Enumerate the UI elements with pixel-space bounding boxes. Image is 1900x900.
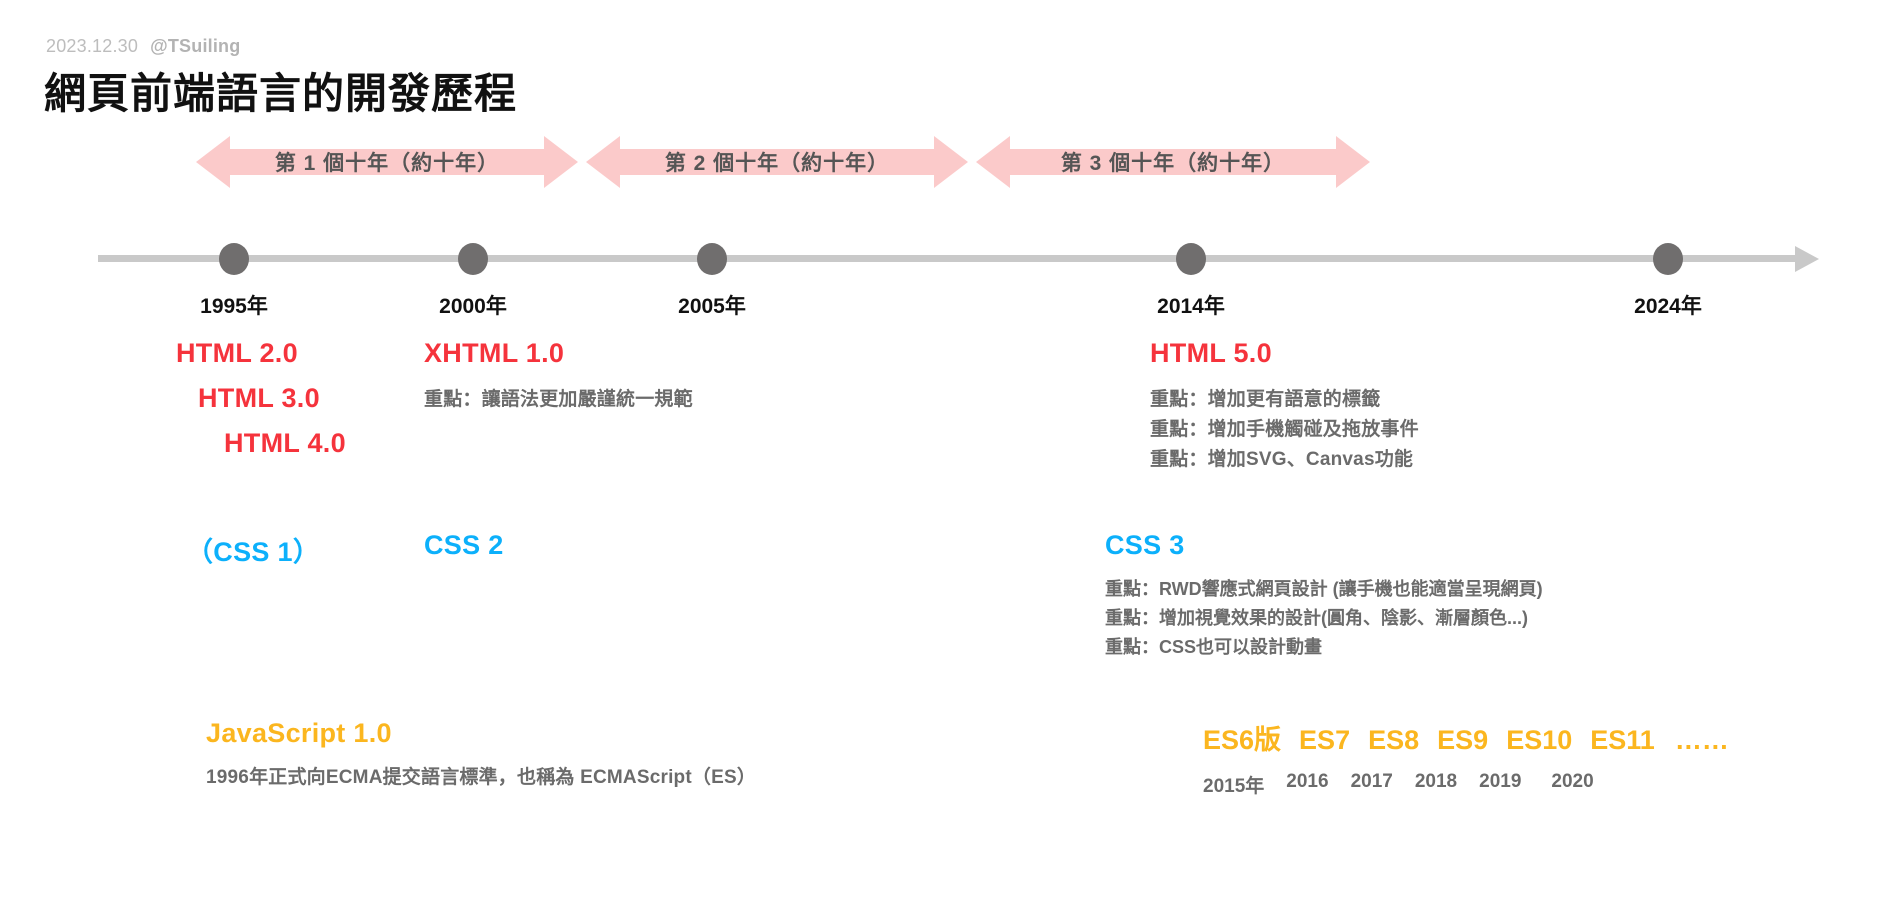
es-version-label: ES8 <box>1368 725 1419 756</box>
es-version-label: ES9 <box>1437 725 1488 756</box>
es-year-label: 2017 <box>1351 771 1393 798</box>
javascript-title: JavaScript 1.0 <box>206 718 756 749</box>
es-version-label: ES6版 <box>1203 718 1281 757</box>
css1-title: （CSS 1） <box>186 530 320 569</box>
author-label: @TSuiling <box>150 36 240 56</box>
milestone-dot <box>697 243 727 275</box>
javascript-block: JavaScript 1.0 1996年正式向ECMA提交語言標準，也稱為 EC… <box>206 718 756 793</box>
date-label: 2023.12.30 <box>46 36 138 56</box>
page-title: 網頁前端語言的開發歷程 <box>44 60 517 121</box>
meta-line: 2023.12.30@TSuiling <box>46 36 240 57</box>
es-ellipsis-label: …… <box>1675 725 1729 756</box>
es-year-label: 2020 <box>1551 771 1593 798</box>
javascript-note: 1996年正式向ECMA提交語言標準，也稱為 ECMAScript（ES） <box>206 763 756 793</box>
es-version-label: ES10 <box>1506 725 1572 756</box>
html5-block: HTML 5.0 重點：增加更有語意的標籤 重點：增加手機觸碰及拖放事件 重點：… <box>1150 338 1419 475</box>
es-version-label: ES11 <box>1590 725 1655 756</box>
axis-line <box>98 255 1798 262</box>
css3-note: 重點：CSS也可以設計動畫 <box>1105 633 1543 662</box>
decade-arrow-2: 第 2 個十年（約十年） <box>586 136 968 188</box>
milestone-year-label: 2014年 <box>1157 290 1225 320</box>
css2-block: CSS 2 <box>424 530 504 561</box>
html5-title: HTML 5.0 <box>1150 338 1419 369</box>
milestone-dot <box>1653 243 1683 275</box>
milestone-dot <box>458 243 488 275</box>
html5-note: 重點：增加SVG、Canvas功能 <box>1150 445 1419 475</box>
html5-note: 重點：增加更有語意的標籤 <box>1150 385 1419 415</box>
decade-arrow-3: 第 3 個十年（約十年） <box>976 136 1370 188</box>
xhtml-block: XHTML 1.0 重點：讓語法更加嚴謹統一規範 <box>424 338 693 415</box>
xhtml-title: XHTML 1.0 <box>424 338 693 369</box>
milestone-year-label: 2005年 <box>678 290 746 320</box>
milestone-year-label: 2024年 <box>1634 290 1702 320</box>
es-year-row: 2015年 2016 2017 2018 2019 2020 <box>1203 771 1729 798</box>
decade-label: 第 3 個十年（約十年） <box>1061 147 1285 177</box>
css3-note: 重點：RWD響應式網頁設計 (讓手機也能適當呈現網頁) <box>1105 575 1543 604</box>
es-year-label: 2015年 <box>1203 771 1264 798</box>
axis-arrowhead-icon <box>1795 246 1819 272</box>
html-version-label: HTML 2.0 <box>176 338 346 369</box>
html-early-versions: HTML 2.0 HTML 3.0 HTML 4.0 <box>176 338 346 473</box>
decade-label: 第 2 個十年（約十年） <box>665 147 889 177</box>
decade-label: 第 1 個十年（約十年） <box>275 147 499 177</box>
milestone-dot <box>219 243 249 275</box>
es-version-label: ES7 <box>1299 725 1350 756</box>
html-version-label: HTML 4.0 <box>224 428 346 459</box>
css2-title: CSS 2 <box>424 530 504 561</box>
es-version-row: ES6版 ES7 ES8 ES9 ES10 ES11 …… <box>1203 718 1729 757</box>
es-year-label: 2016 <box>1286 771 1328 798</box>
timeline-axis: 1995年 2000年 2005年 2014年 2024年 <box>0 230 1900 290</box>
css3-block: CSS 3 重點：RWD響應式網頁設計 (讓手機也能適當呈現網頁) 重點：增加視… <box>1105 530 1543 662</box>
decade-arrow-1: 第 1 個十年（約十年） <box>196 136 578 188</box>
es-versions-block: ES6版 ES7 ES8 ES9 ES10 ES11 …… 2015年 2016… <box>1203 718 1729 798</box>
milestone-dot <box>1176 243 1206 275</box>
html5-note: 重點：增加手機觸碰及拖放事件 <box>1150 415 1419 445</box>
css3-title: CSS 3 <box>1105 530 1543 561</box>
es-year-label: 2018 <box>1415 771 1457 798</box>
html-version-label: HTML 3.0 <box>198 383 346 414</box>
es-year-label: 2019 <box>1479 771 1521 798</box>
milestone-year-label: 1995年 <box>200 290 268 320</box>
css1-block: （CSS 1） <box>186 530 320 569</box>
timeline-diagram: 2023.12.30@TSuiling 網頁前端語言的開發歷程 第 1 個十年（… <box>0 0 1900 900</box>
milestone-year-label: 2000年 <box>439 290 507 320</box>
xhtml-note: 重點：讓語法更加嚴謹統一規範 <box>424 385 693 415</box>
css3-note: 重點：增加視覺效果的設計(圓角、陰影、漸層顏色...) <box>1105 604 1543 633</box>
